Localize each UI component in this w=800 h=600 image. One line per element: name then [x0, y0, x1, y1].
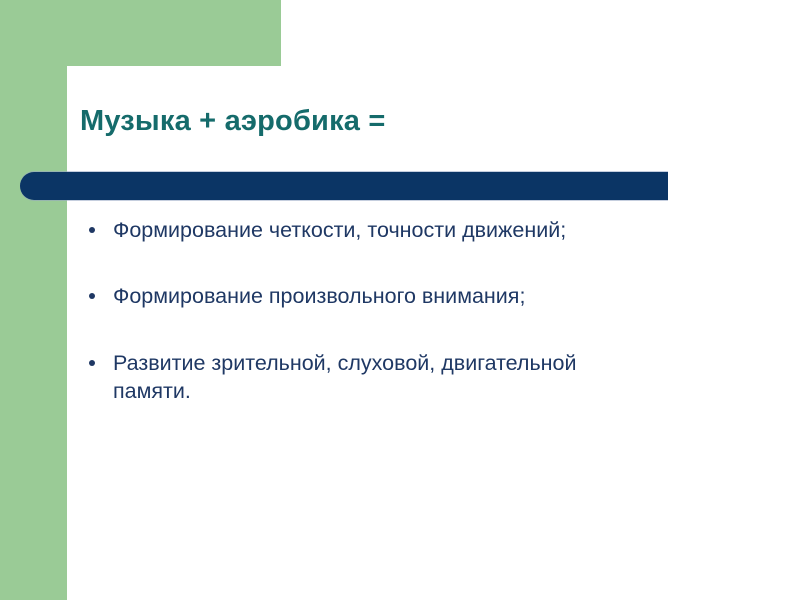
list-item-text: Формирование произвольного внимания;	[113, 282, 746, 310]
green-top-block	[0, 0, 281, 66]
slide-title: Музыка + аэробика =	[80, 104, 740, 139]
green-sidebar-column	[0, 0, 67, 600]
list-item-text: Развитие зрительной, слуховой, двигатель…	[113, 349, 633, 406]
title-accent-bar	[20, 172, 668, 200]
bullet-list: Формирование четкости, точности движений…	[86, 216, 746, 406]
bullet-dot-icon	[89, 227, 95, 233]
bullet-dot-icon	[89, 360, 95, 366]
list-item: Развитие зрительной, слуховой, двигатель…	[86, 349, 746, 406]
list-item: Формирование произвольного внимания;	[86, 282, 746, 310]
presentation-slide: Музыка + аэробика = Формирование четкост…	[0, 0, 800, 600]
list-item-text: Формирование четкости, точности движений…	[113, 216, 633, 244]
list-item: Формирование четкости, точности движений…	[86, 216, 746, 244]
bullet-dot-icon	[89, 293, 95, 299]
